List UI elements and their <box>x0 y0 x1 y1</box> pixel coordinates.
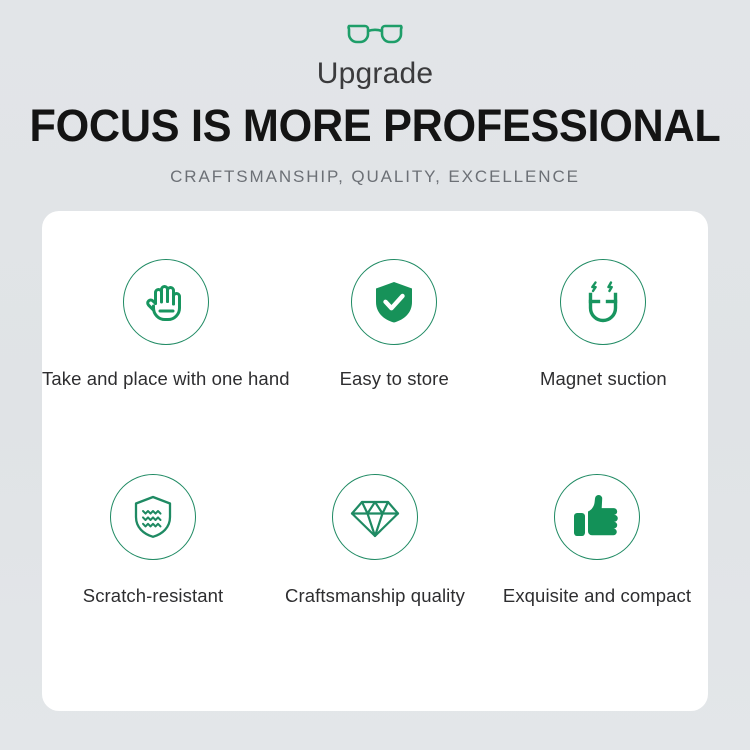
feature-item-hand: Take and place with one hand <box>42 259 290 474</box>
feature-item-scratch-resistant: Scratch-resistant <box>42 474 264 689</box>
feature-label: Exquisite and compact <box>503 584 691 608</box>
magnet-icon <box>578 277 628 327</box>
features-card: Take and place with one hand Easy to sto… <box>42 211 708 711</box>
feature-label: Easy to store <box>340 367 449 391</box>
icon-circle <box>560 259 646 345</box>
shield-check-icon <box>369 277 419 327</box>
feature-label: Take and place with one hand <box>42 367 290 391</box>
shield-waves-icon <box>128 492 178 542</box>
feature-label: Craftsmanship quality <box>285 584 465 608</box>
page-title: FOCUS IS MORE PROFESSIONAL <box>15 100 735 152</box>
feature-item-exquisite: Exquisite and compact <box>486 474 708 689</box>
feature-row: Scratch-resistant <box>42 474 708 689</box>
icon-circle <box>351 259 437 345</box>
icon-circle <box>110 474 196 560</box>
icon-circle <box>123 259 209 345</box>
features-grid: Take and place with one hand Easy to sto… <box>42 259 708 689</box>
promo-page: Upgrade FOCUS IS MORE PROFESSIONAL CRAFT… <box>0 0 750 750</box>
thumbs-up-icon <box>571 491 623 543</box>
eyebrow-text: Upgrade <box>0 56 750 92</box>
feature-row: Take and place with one hand Easy to sto… <box>42 259 708 474</box>
feature-item-craftsmanship: Craftsmanship quality <box>264 474 486 689</box>
icon-circle <box>554 474 640 560</box>
glasses-icon-wrap <box>0 14 750 54</box>
feature-label: Magnet suction <box>540 367 667 391</box>
feature-item-magnet: Magnet suction <box>499 259 708 474</box>
diamond-icon <box>349 491 401 543</box>
feature-label: Scratch-resistant <box>83 584 224 608</box>
feature-item-easy-to-store: Easy to store <box>290 259 499 474</box>
icon-circle <box>332 474 418 560</box>
glasses-icon <box>345 20 405 48</box>
subtitle-text: CRAFTSMANSHIP, QUALITY, EXCELLENCE <box>0 165 750 189</box>
header: Upgrade FOCUS IS MORE PROFESSIONAL CRAFT… <box>0 0 750 189</box>
hand-icon <box>141 277 191 327</box>
